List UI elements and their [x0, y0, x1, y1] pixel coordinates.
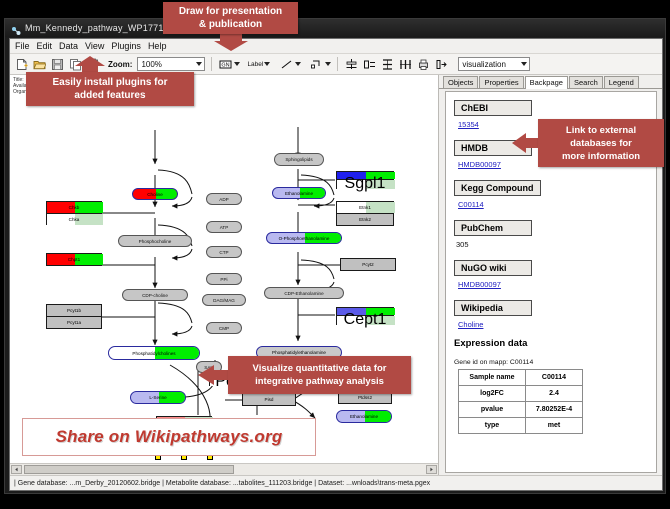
status-bar: | Gene database: ...m_Derby_20120602.bri… — [10, 475, 662, 490]
callout-draw-line1: Draw for presentation — [179, 5, 282, 18]
status-text: | Gene database: ...m_Derby_20120602.bri… — [14, 480, 430, 487]
db-link-kegg-compound[interactable]: C00114 — [458, 200, 656, 209]
db-link-nugo-wiki[interactable]: HMDB00097 — [458, 280, 656, 289]
share-text: Share on Wikipathways.org — [56, 427, 283, 447]
gene-box-pcyt2[interactable]: Pcyt2 — [340, 258, 396, 271]
expression-table: Sample name C00114 log2FC 2.4 pvalue 7.8… — [458, 369, 583, 434]
gene-label-pisd: Pisd — [265, 397, 274, 402]
distribute-icon[interactable] — [398, 57, 413, 72]
node-ethanolamine-top[interactable]: Ethanolamine — [272, 187, 326, 199]
shape-tool[interactable] — [309, 57, 331, 72]
pathway-canvas[interactable]: Title: Availa Organi — [10, 75, 439, 475]
node-ctp[interactable]: CTP — [206, 246, 242, 258]
save-icon[interactable] — [50, 57, 65, 72]
gene-label-pcyt2: Pcyt2 — [362, 262, 374, 267]
node-o-phosphoethanolamine[interactable]: O-Phosphoethanolamine — [266, 232, 342, 244]
table-row: Sample name C00114 — [459, 370, 583, 386]
exp-key-log2fc: log2FC — [459, 386, 526, 402]
node-ppi[interactable]: PPi — [206, 273, 242, 285]
callout-visualize-line1: Visualize quantitative data for — [253, 362, 387, 375]
node-ethanolamine-bottom[interactable]: Ethanolamine — [336, 410, 392, 423]
callout-links: Link to external databases for more info… — [538, 119, 664, 167]
tab-objects[interactable]: Objects — [443, 76, 478, 88]
node-l-serine-left[interactable]: L-Serine — [130, 391, 186, 404]
label-tool-text: Label — [247, 61, 263, 68]
gene-label-pcyt1a: Pcyt1a — [67, 320, 81, 325]
callout-links-tail — [512, 131, 540, 155]
title-bar: Mm_Kennedy_pathway_WP1771_45176.gpml — [5, 19, 665, 37]
node-label: Phosphatidylethanolamine — [272, 350, 326, 355]
menu-plugins[interactable]: Plugins — [111, 41, 141, 51]
db-header-pubchem: PubChem — [454, 220, 532, 236]
callout-plugins-line2: added features — [74, 89, 145, 102]
share-banner: Share on Wikipathways.org — [22, 418, 316, 456]
chevron-down-icon[interactable] — [264, 62, 270, 66]
chevron-down-icon[interactable] — [325, 62, 331, 66]
node-label: DAG/MAG — [213, 298, 235, 303]
gene-box-chpt1[interactable]: Chpt1 — [46, 253, 102, 266]
node-label: Choline — [147, 192, 163, 197]
gene-label-ptdss2: Ptdss2 — [358, 395, 372, 400]
node-phosphatidylcholines[interactable]: Phosphatidylcholines — [108, 346, 200, 360]
toolbar-separator — [337, 57, 338, 71]
gene-label-etnk1: Etnk1 — [359, 205, 371, 210]
gene-label-pcyt1b: Pcyt1b — [67, 308, 81, 313]
exp-key-type: type — [459, 418, 526, 434]
toolbar-separator — [211, 57, 212, 71]
node-label: O-Phosphoethanolamine — [279, 236, 330, 241]
gene-label-chkb: Chkb — [69, 205, 80, 210]
zoom-combo[interactable]: 100% — [137, 57, 205, 71]
chevron-down-icon — [521, 62, 527, 66]
extra-icon[interactable] — [434, 57, 449, 72]
exp-val-sample-name: C00114 — [526, 370, 583, 386]
node-label: Phosphatidylcholines — [132, 351, 175, 356]
exp-val-pvalue: 7.80252E-4 — [526, 402, 583, 418]
table-row: type met — [459, 418, 583, 434]
menu-data[interactable]: Data — [59, 41, 78, 51]
gene-box-etnk[interactable]: Etnk1 Etnk2 — [336, 201, 394, 226]
db-link-wikipedia[interactable]: Choline — [458, 320, 656, 329]
node-atp[interactable]: ATP — [206, 221, 242, 233]
node-label: Sphingolipids — [285, 157, 312, 162]
callout-draw-line2: & publication — [199, 18, 262, 31]
node-cdp-ethanolamine[interactable]: CDP-Ethanolamine — [264, 287, 344, 299]
visualization-value: visualization — [462, 60, 506, 69]
callout-links-line2: databases for — [570, 137, 632, 150]
stack-icon[interactable] — [380, 57, 395, 72]
line-tool[interactable] — [279, 57, 301, 72]
callout-plugins: Easily install plugins for added feature… — [26, 72, 194, 106]
node-sphingolipids[interactable]: Sphingolipids — [274, 153, 324, 166]
print-icon[interactable] — [416, 57, 431, 72]
menu-bar: File Edit Data View Plugins Help — [10, 39, 662, 54]
node-label: L-Serine — [149, 395, 166, 400]
tab-properties[interactable]: Properties — [479, 76, 523, 88]
zoom-value: 100% — [141, 60, 161, 69]
node-label: PPi — [220, 277, 227, 282]
db-value-pubchem: 305 — [456, 240, 656, 249]
node-label: CMP — [219, 326, 229, 331]
gene-label-etnk2: Etnk2 — [359, 217, 371, 222]
callout-links-line3: more information — [562, 150, 640, 163]
gene-box-chk[interactable]: Chkb Chka — [46, 201, 102, 225]
exp-key-pvalue: pvalue — [459, 402, 526, 418]
callout-draw-tail — [214, 33, 248, 51]
gene-box-cept1[interactable]: Cept1 — [336, 307, 394, 325]
datanode-icon[interactable]: GN — [218, 57, 233, 72]
menu-file[interactable]: File — [15, 41, 30, 51]
db-header-nugo-wiki: NuGO wiki — [454, 260, 532, 276]
open-icon[interactable] — [32, 57, 47, 72]
gene-box-sgpl1[interactable]: Sgpl1 — [336, 171, 394, 189]
menu-view[interactable]: View — [85, 41, 104, 51]
tab-backpage[interactable]: Backpage — [525, 76, 568, 89]
exp-key-sample-name: Sample name — [459, 370, 526, 386]
chevron-down-icon — [196, 62, 202, 66]
node-label: Phosphocholine — [139, 239, 172, 244]
tab-legend[interactable]: Legend — [604, 76, 639, 88]
line-icon[interactable] — [279, 57, 294, 72]
node-cmp[interactable]: CMP — [206, 322, 242, 334]
callout-draw: Draw for presentation & publication — [163, 2, 298, 34]
menu-edit[interactable]: Edit — [37, 41, 53, 51]
gene-box-pisd[interactable]: Pisd — [242, 393, 296, 406]
gene-box-pcyt1[interactable]: Pcyt1b Pcyt1a — [46, 304, 102, 329]
svg-text:GN: GN — [222, 62, 230, 68]
pathvisio-icon — [11, 23, 21, 33]
node-choline-top[interactable]: Choline — [132, 188, 178, 200]
node-dag-mag[interactable]: DAG/MAG — [202, 294, 246, 306]
node-label: CTP — [219, 250, 228, 255]
node-adp[interactable]: ADP — [206, 193, 242, 205]
callout-visualize-line2: integrative pathway analysis — [255, 375, 384, 388]
label-tool[interactable]: Label — [247, 61, 270, 68]
chevron-down-icon[interactable] — [234, 62, 240, 66]
shape-icon[interactable] — [309, 57, 324, 72]
callout-visualize: Visualize quantitative data for integrat… — [228, 356, 411, 394]
node-label: Ethanolamine — [350, 414, 378, 419]
gene-label-sgpl1: Sgpl1 — [337, 175, 393, 193]
table-row: log2FC 2.4 — [459, 386, 583, 402]
exp-val-type: met — [526, 418, 583, 434]
screenshot-root: Mm_Kennedy_pathway_WP1771_45176.gpml Fil… — [0, 0, 670, 509]
node-label: CDP-choline — [142, 293, 168, 298]
datanode-tool[interactable]: GN — [218, 57, 240, 72]
callout-visualize-tail — [198, 363, 230, 387]
expression-data-heading: Expression data — [454, 338, 656, 349]
node-label: Ethanolamine — [285, 191, 313, 196]
node-label: ATP — [220, 225, 229, 230]
callout-plugins-line1: Easily install plugins for — [52, 76, 167, 89]
gene-label-chka: Chka — [69, 217, 80, 222]
visualization-combo[interactable]: visualization — [458, 57, 530, 71]
align-icon[interactable] — [344, 57, 359, 72]
new-icon[interactable] — [14, 57, 29, 72]
gene-label-chpt1: Chpt1 — [68, 257, 80, 262]
chevron-down-icon[interactable] — [295, 62, 301, 66]
node-label: ADP — [219, 197, 228, 202]
zoom-label: Zoom: — [108, 60, 132, 69]
tab-search[interactable]: Search — [569, 76, 603, 88]
group-icon[interactable] — [362, 57, 377, 72]
db-header-kegg-compound: Kegg Compound — [454, 180, 541, 196]
node-phosphocholine[interactable]: Phosphocholine — [118, 235, 192, 247]
table-row: pvalue 7.80252E-4 — [459, 402, 583, 418]
node-cdp-choline[interactable]: CDP-choline — [122, 289, 188, 301]
callout-links-line1: Link to external — [566, 124, 636, 137]
expression-gene-id: Gene id on mapp: C00114 — [454, 359, 656, 366]
db-header-chebi: ChEBI — [454, 100, 532, 116]
exp-val-log2fc: 2.4 — [526, 386, 583, 402]
node-label: CDP-Ethanolamine — [284, 291, 323, 296]
db-header-wikipedia: Wikipedia — [454, 300, 532, 316]
menu-help[interactable]: Help — [148, 41, 167, 51]
side-panel-tabs: Objects Properties Backpage Search Legen… — [439, 75, 663, 89]
gene-label-cept1: Cept1 — [337, 311, 393, 329]
